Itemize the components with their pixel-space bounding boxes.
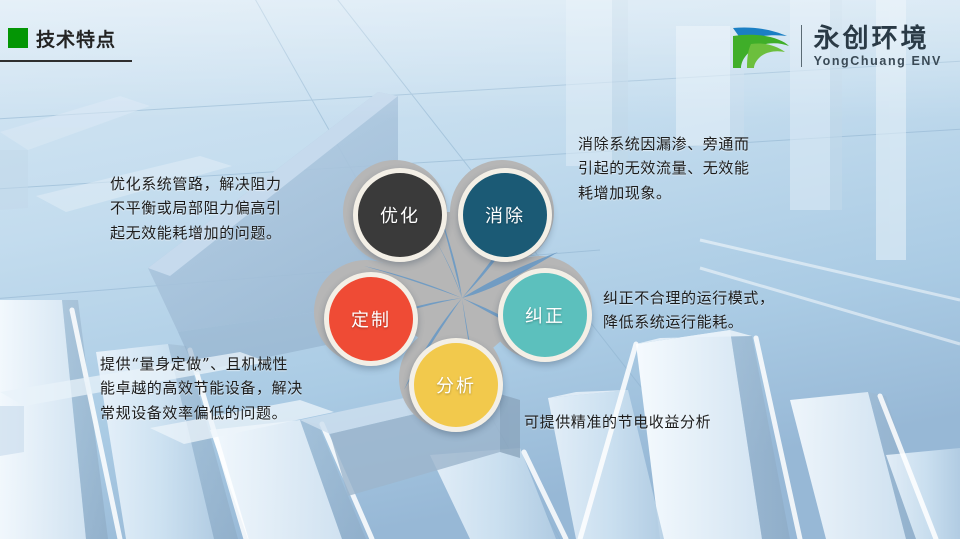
header-underline — [0, 60, 132, 62]
wheel-circle-label: 纠正 — [525, 302, 565, 328]
wheel-circle-label: 消除 — [485, 202, 525, 228]
page-title: 技术特点 — [36, 25, 116, 52]
wheel-circle-xiaochu[interactable]: 消除 — [458, 168, 552, 262]
logo-name-en: YongChuang ENV — [814, 55, 942, 68]
logo-divider — [801, 25, 802, 67]
wheel-circle-label: 优化 — [380, 202, 420, 228]
wheel-circle-jiuzheng[interactable]: 纠正 — [498, 268, 592, 362]
logo-wordmark: 永创环境 YongChuang ENV — [814, 25, 942, 68]
logo-name-cn: 永创环境 — [814, 25, 942, 51]
wheel-circle-label: 定制 — [351, 306, 391, 332]
header-accent-square — [8, 28, 28, 48]
company-logo: 永创环境 YongChuang ENV — [729, 22, 942, 70]
wheel-circle-label: 分析 — [436, 372, 476, 398]
wheel-circle-youhua[interactable]: 优化 — [353, 168, 447, 262]
callout-text-jiuzheng: 纠正不合理的运行模式， 降低系统运行能耗。 — [603, 286, 818, 335]
slide-canvas: 技术特点 永创环境 YongChuang ENV — [0, 0, 960, 539]
callout-text-dingzhi: 提供“量身定做”、且机械性 能卓越的高效节能设备，解决 常规设备效率偏低的问题。 — [100, 352, 350, 425]
wheel-circle-fenxi[interactable]: 分析 — [409, 338, 503, 432]
callout-text-fenxi: 可提供精准的节电收益分析 — [524, 410, 824, 434]
callout-text-youhua: 优化系统管路，解决阻力 不平衡或局部阻力偏高引 起无效能耗增加的问题。 — [110, 172, 345, 245]
leaf-logo-icon — [729, 22, 793, 70]
callout-text-xiaochu: 消除系统因漏渗、旁通而 引起的无效流量、无效能 耗增加现象。 — [578, 132, 793, 205]
